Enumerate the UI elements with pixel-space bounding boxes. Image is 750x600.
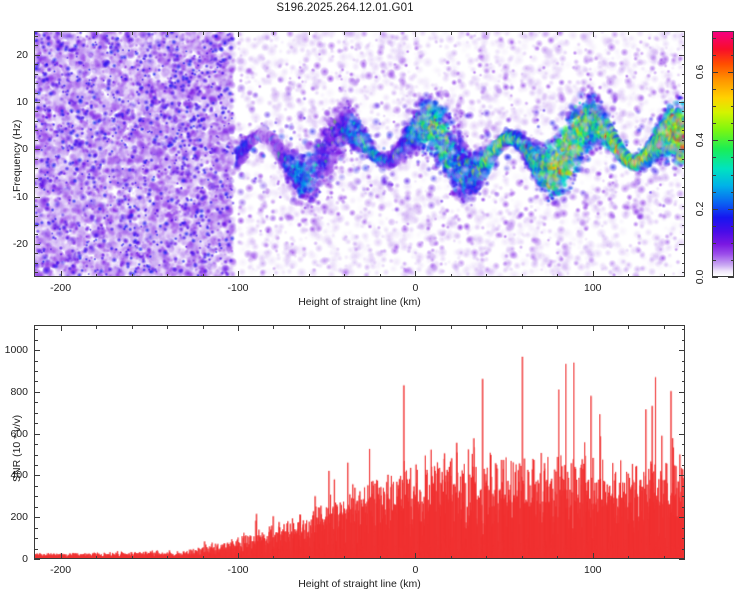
colorbar-tick-minor xyxy=(731,38,735,39)
axis-tick-minor xyxy=(34,234,38,235)
axis-tick-minor xyxy=(628,31,629,35)
axis-tick-minor xyxy=(682,465,686,466)
axis-tick-minor xyxy=(34,225,38,226)
axis-tick-minor xyxy=(34,528,38,529)
axis-tick-minor xyxy=(682,130,686,131)
axis-tick-major xyxy=(34,102,40,103)
x-axis-tick-label: -100 xyxy=(227,282,248,294)
axis-tick-minor xyxy=(309,31,310,35)
axis-tick-minor xyxy=(682,329,686,330)
spectrogram-x-axis-label: Height of straight line (km) xyxy=(298,296,421,308)
colorbar-tick-minor xyxy=(712,243,716,244)
axis-tick-minor xyxy=(34,159,38,160)
y-axis-tick-label: -10 xyxy=(0,191,28,203)
axis-tick-minor xyxy=(34,340,38,341)
axis-tick-minor xyxy=(682,121,686,122)
axis-tick-minor xyxy=(34,361,38,362)
colorbar-tick-label: 0.0 xyxy=(694,270,706,285)
axis-tick-minor xyxy=(132,31,133,35)
axis-tick-minor xyxy=(309,274,310,278)
axis-tick-major xyxy=(238,31,239,37)
colorbar-tick-minor xyxy=(712,175,716,176)
axis-tick-minor xyxy=(34,206,38,207)
figure-title: S196.2025.264.12.01.G01 xyxy=(0,2,690,14)
axis-tick-minor xyxy=(380,556,381,560)
colorbar-tick-minor xyxy=(712,89,716,90)
axis-tick-minor xyxy=(167,325,168,329)
axis-tick-minor xyxy=(34,371,38,372)
colorbar-tick-major xyxy=(712,72,718,73)
axis-tick-minor xyxy=(273,274,274,278)
colorbar-tick-minor xyxy=(712,123,716,124)
axis-tick-minor xyxy=(451,31,452,35)
axis-tick-minor xyxy=(273,31,274,35)
axis-tick-minor xyxy=(344,556,345,560)
axis-tick-minor xyxy=(682,216,686,217)
x-axis-tick-label: -100 xyxy=(227,564,248,576)
colorbar-tick-minor xyxy=(712,157,716,158)
colorbar-tick-major xyxy=(712,140,718,141)
colorbar-tick-major xyxy=(728,140,734,141)
axis-tick-minor xyxy=(557,274,558,278)
axis-tick-major xyxy=(238,553,239,559)
axis-tick-minor xyxy=(96,274,97,278)
colorbar-tick-minor xyxy=(712,55,716,56)
axis-tick-minor xyxy=(34,413,38,414)
axis-tick-minor xyxy=(34,121,38,122)
axis-tick-major xyxy=(679,197,685,198)
axis-tick-major xyxy=(61,553,62,559)
axis-tick-minor xyxy=(34,496,38,497)
axis-tick-major xyxy=(679,475,685,476)
colorbar-gradient xyxy=(712,31,734,277)
colorbar-tick-label: 0.2 xyxy=(694,201,706,216)
axis-tick-major xyxy=(679,244,685,245)
axis-tick-minor xyxy=(682,74,686,75)
y-axis-tick-label: 10 xyxy=(0,96,28,108)
axis-tick-minor xyxy=(682,111,686,112)
axis-tick-minor xyxy=(96,325,97,329)
axis-tick-minor xyxy=(522,325,523,329)
axis-tick-minor xyxy=(682,413,686,414)
axis-tick-major xyxy=(34,55,40,56)
axis-tick-minor xyxy=(344,31,345,35)
axis-tick-minor xyxy=(273,325,274,329)
axis-tick-major xyxy=(34,517,40,518)
axis-tick-minor xyxy=(557,325,558,329)
axis-tick-minor xyxy=(34,45,38,46)
axis-tick-minor xyxy=(96,556,97,560)
colorbar-tick-minor xyxy=(731,106,735,107)
axis-tick-major xyxy=(34,475,40,476)
axis-tick-major xyxy=(679,392,685,393)
axis-tick-minor xyxy=(682,83,686,84)
axis-tick-major xyxy=(238,325,239,331)
axis-tick-minor xyxy=(522,31,523,35)
axis-tick-minor xyxy=(682,496,686,497)
axis-tick-major xyxy=(34,434,40,435)
axis-tick-major xyxy=(415,553,416,559)
axis-tick-minor xyxy=(344,325,345,329)
axis-tick-major xyxy=(415,31,416,37)
axis-tick-minor xyxy=(34,130,38,131)
axis-tick-minor xyxy=(34,93,38,94)
axis-tick-minor xyxy=(682,507,686,508)
axis-tick-major xyxy=(679,350,685,351)
colorbar-tick-minor xyxy=(731,243,735,244)
axis-tick-major xyxy=(415,325,416,331)
axis-tick-minor xyxy=(682,253,686,254)
axis-tick-minor xyxy=(664,274,665,278)
axis-tick-minor xyxy=(682,64,686,65)
axis-tick-minor xyxy=(682,486,686,487)
axis-tick-major xyxy=(679,434,685,435)
colorbar-tick-minor xyxy=(731,226,735,227)
axis-tick-major xyxy=(679,55,685,56)
colorbar-tick-major xyxy=(728,277,734,278)
axis-tick-minor xyxy=(34,216,38,217)
axis-tick-minor xyxy=(34,402,38,403)
axis-tick-minor xyxy=(682,361,686,362)
axis-tick-minor xyxy=(309,325,310,329)
axis-tick-major xyxy=(34,350,40,351)
axis-tick-minor xyxy=(682,168,686,169)
colorbar-tick-minor xyxy=(731,260,735,261)
snr-plot-area xyxy=(34,325,685,559)
axis-tick-minor xyxy=(682,45,686,46)
colorbar-tick-label: 0.6 xyxy=(694,65,706,80)
axis-tick-minor xyxy=(380,31,381,35)
axis-tick-minor xyxy=(132,274,133,278)
snr-canvas xyxy=(35,326,684,558)
axis-tick-major xyxy=(61,271,62,277)
axis-tick-minor xyxy=(682,206,686,207)
figure-root: S196.2025.264.12.01.G01 -200-1000100-20-… xyxy=(0,0,750,600)
axis-tick-minor xyxy=(522,274,523,278)
colorbar-tick-minor xyxy=(731,123,735,124)
axis-tick-minor xyxy=(34,140,38,141)
axis-tick-major xyxy=(61,31,62,37)
y-axis-tick-label: 20 xyxy=(0,49,28,61)
axis-tick-minor xyxy=(682,538,686,539)
colorbar-tick-major xyxy=(728,72,734,73)
x-axis-tick-label: -200 xyxy=(50,282,71,294)
axis-tick-minor xyxy=(203,325,204,329)
axis-tick-major xyxy=(679,149,685,150)
axis-tick-minor xyxy=(628,274,629,278)
axis-tick-minor xyxy=(486,325,487,329)
axis-tick-minor xyxy=(682,263,686,264)
axis-tick-minor xyxy=(682,234,686,235)
axis-tick-minor xyxy=(682,371,686,372)
axis-tick-minor xyxy=(344,274,345,278)
axis-tick-minor xyxy=(682,178,686,179)
colorbar-tick-minor xyxy=(712,226,716,227)
axis-tick-minor xyxy=(34,272,38,273)
axis-tick-major xyxy=(415,271,416,277)
axis-tick-minor xyxy=(486,274,487,278)
colorbar-tick-minor xyxy=(712,260,716,261)
axis-tick-minor xyxy=(628,556,629,560)
axis-tick-minor xyxy=(682,340,686,341)
colorbar-group: Normalized spectral amplitude xyxy=(712,31,734,277)
colorbar-tick-minor xyxy=(712,106,716,107)
axis-tick-minor xyxy=(682,225,686,226)
colorbar-tick-minor xyxy=(712,38,716,39)
axis-tick-minor xyxy=(96,31,97,35)
axis-tick-minor xyxy=(309,556,310,560)
axis-tick-major xyxy=(61,325,62,331)
axis-tick-minor xyxy=(34,168,38,169)
axis-tick-minor xyxy=(682,272,686,273)
axis-tick-minor xyxy=(682,381,686,382)
axis-tick-major xyxy=(679,559,685,560)
axis-tick-minor xyxy=(203,274,204,278)
axis-tick-minor xyxy=(664,556,665,560)
colorbar-tick-minor xyxy=(712,192,716,193)
axis-tick-minor xyxy=(34,538,38,539)
axis-tick-minor xyxy=(34,111,38,112)
axis-tick-minor xyxy=(34,83,38,84)
axis-tick-minor xyxy=(34,423,38,424)
axis-tick-minor xyxy=(34,178,38,179)
axis-tick-minor xyxy=(34,253,38,254)
colorbar-tick-minor xyxy=(731,55,735,56)
axis-tick-major xyxy=(679,517,685,518)
y-axis-tick-label: 1000 xyxy=(0,344,28,356)
axis-tick-minor xyxy=(682,93,686,94)
y-axis-tick-label: 200 xyxy=(0,511,28,523)
colorbar-tick-label: 0.4 xyxy=(694,133,706,148)
snr-y-axis-label: SNR (10 * v/v) xyxy=(11,415,23,482)
axis-tick-minor xyxy=(451,274,452,278)
axis-tick-minor xyxy=(682,187,686,188)
axis-tick-minor xyxy=(628,325,629,329)
colorbar-tick-minor xyxy=(731,175,735,176)
axis-tick-minor xyxy=(380,325,381,329)
axis-tick-minor xyxy=(451,556,452,560)
spectrogram-y-axis-label: Frequency (Hz) xyxy=(11,120,23,192)
snr-x-axis-label: Height of straight line (km) xyxy=(298,578,421,590)
axis-tick-minor xyxy=(34,455,38,456)
axis-tick-minor xyxy=(522,556,523,560)
axis-tick-minor xyxy=(167,556,168,560)
colorbar-tick-major xyxy=(712,277,718,278)
axis-tick-minor xyxy=(34,263,38,264)
x-axis-tick-label: 0 xyxy=(412,564,418,576)
y-axis-tick-label: 800 xyxy=(0,386,28,398)
axis-tick-minor xyxy=(203,31,204,35)
axis-tick-minor xyxy=(34,64,38,65)
spectrogram-canvas xyxy=(35,32,684,276)
axis-tick-major xyxy=(238,271,239,277)
x-axis-tick-label: -200 xyxy=(50,564,71,576)
axis-tick-minor xyxy=(34,187,38,188)
axis-tick-minor xyxy=(682,549,686,550)
axis-tick-minor xyxy=(682,159,686,160)
axis-tick-minor xyxy=(34,486,38,487)
axis-tick-minor xyxy=(34,465,38,466)
axis-tick-major xyxy=(593,553,594,559)
axis-tick-major xyxy=(34,392,40,393)
axis-tick-minor xyxy=(132,556,133,560)
axis-tick-minor xyxy=(34,74,38,75)
y-axis-tick-label: 0 xyxy=(0,553,28,565)
axis-tick-minor xyxy=(557,31,558,35)
axis-tick-minor xyxy=(682,36,686,37)
spectrogram-plot-area xyxy=(34,31,685,277)
colorbar-tick-major xyxy=(728,209,734,210)
axis-tick-minor xyxy=(34,381,38,382)
axis-tick-minor xyxy=(451,325,452,329)
axis-tick-major xyxy=(34,197,40,198)
colorbar-tick-major xyxy=(712,209,718,210)
axis-tick-minor xyxy=(132,325,133,329)
x-axis-tick-label: 100 xyxy=(584,564,602,576)
axis-tick-minor xyxy=(167,274,168,278)
axis-tick-minor xyxy=(203,556,204,560)
axis-tick-minor xyxy=(682,444,686,445)
axis-tick-major xyxy=(593,271,594,277)
axis-tick-minor xyxy=(664,31,665,35)
x-axis-tick-label: 0 xyxy=(412,282,418,294)
axis-tick-minor xyxy=(34,549,38,550)
axis-tick-major xyxy=(34,149,40,150)
axis-tick-minor xyxy=(557,556,558,560)
axis-tick-minor xyxy=(34,329,38,330)
axis-tick-minor xyxy=(273,556,274,560)
axis-tick-major xyxy=(593,31,594,37)
axis-tick-major xyxy=(679,102,685,103)
colorbar-tick-minor xyxy=(731,192,735,193)
axis-tick-minor xyxy=(34,507,38,508)
axis-tick-minor xyxy=(167,31,168,35)
y-axis-tick-label: -20 xyxy=(0,238,28,250)
axis-tick-minor xyxy=(486,31,487,35)
axis-tick-minor xyxy=(682,455,686,456)
colorbar-tick-minor xyxy=(731,157,735,158)
axis-tick-major xyxy=(593,325,594,331)
axis-tick-minor xyxy=(682,528,686,529)
axis-tick-minor xyxy=(380,274,381,278)
axis-tick-minor xyxy=(682,423,686,424)
axis-tick-minor xyxy=(34,444,38,445)
axis-tick-minor xyxy=(682,140,686,141)
axis-tick-major xyxy=(34,559,40,560)
x-axis-tick-label: 100 xyxy=(584,282,602,294)
axis-tick-minor xyxy=(682,402,686,403)
axis-tick-minor xyxy=(34,36,38,37)
axis-tick-major xyxy=(34,244,40,245)
axis-tick-minor xyxy=(664,325,665,329)
colorbar-tick-minor xyxy=(731,89,735,90)
axis-tick-minor xyxy=(486,556,487,560)
